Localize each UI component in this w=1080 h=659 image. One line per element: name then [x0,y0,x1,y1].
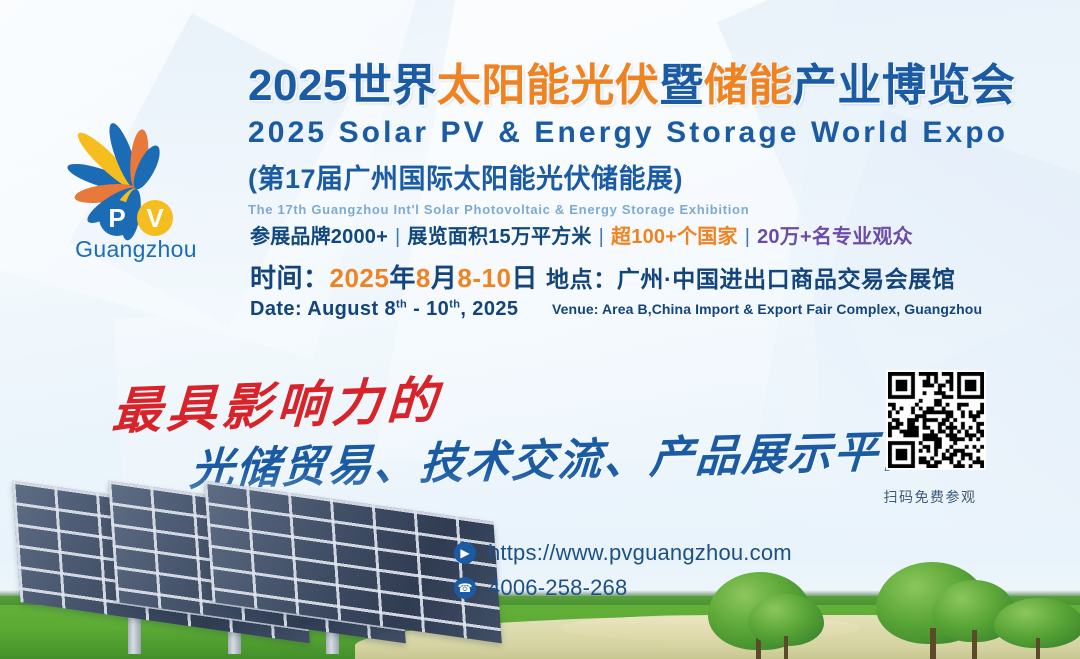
main-title-chinese: 2025世界太阳能光伏暨储能产业博览会 [248,62,1048,110]
solar-panel-array-group [0,500,470,659]
venue-chinese: 地点：广州·中国进出口商品交易会展馆 [546,260,982,294]
date-block: 时间：2025年8月8-10日 Date: August 8th - 10th,… [250,258,538,321]
contact-block: ▶ https://www.pvguangzhou.com ☎ 4006-258… [454,540,792,610]
main-title-segment-1: 太阳能光伏 [437,61,660,110]
logo-letter-v: V [137,200,173,236]
main-title-english: 2025 Solar PV & Energy Storage World Exp… [248,116,1048,150]
phone-row[interactable]: ☎ 4006-258-268 [454,575,792,601]
subtitle-chinese: (第17届广州国际太阳能光伏储能展) [248,157,1048,196]
date-year: 2025 [330,263,390,293]
venue-english: Venue: Area B,China Import & Export Fair… [552,301,982,317]
qr-caption: 扫码免费参观 [872,487,988,507]
logo-letter-p: P [99,200,135,236]
website-url[interactable]: https://www.pvguangzhou.com [488,540,792,566]
date-day-unit: 日 [511,263,538,293]
date-month: 8 [416,263,431,293]
logo-pv-badges: PV [48,200,224,236]
main-title-segment-0: 2025世界 [248,61,437,110]
stat-item-0: 参展品牌2000+ [250,226,388,248]
pv-guangzhou-logo: PV Guangzhou [48,104,224,274]
date-year-unit: 年 [389,263,416,293]
expo-promo-banner: PV Guangzhou 2025世界太阳能光伏暨储能产业博览会 2025 So… [0,0,1080,659]
date-month-unit: 月 [431,263,458,293]
date-chinese: 时间：2025年8月8-10日 [250,258,538,295]
subtitle-english: The 17th Guangzhou Int'l Solar Photovolt… [248,202,1048,217]
stats-separator: | [745,226,750,248]
main-title-segment-2: 暨 [659,61,704,110]
stats-separator: | [395,226,400,248]
stat-item-2: 超100+个国家 [611,226,738,248]
date-english: Date: August 8th - 10th, 2025 [250,298,538,321]
date-en-tail: , 2025 [460,298,518,320]
play-icon: ▶ [454,542,476,564]
date-en-main: Date: August 8 [250,298,396,320]
stats-separator: | [599,226,604,248]
main-title-segment-3: 储能 [704,61,793,110]
phone-number[interactable]: 4006-258-268 [488,575,627,601]
phone-icon: ☎ [454,577,476,599]
stat-item-1: 展览面积15万平方米 [407,226,591,248]
date-en-mid: - 10 [407,298,449,320]
date-days: 8-10 [457,263,511,293]
qr-block: 扫码免费参观 [884,370,988,507]
website-row[interactable]: ▶ https://www.pvguangzhou.com [454,540,792,566]
title-block: 2025世界太阳能光伏暨储能产业博览会 2025 Solar PV & Ener… [248,62,1048,217]
qr-code-image[interactable] [886,370,986,470]
date-en-sup-1: th [396,298,407,310]
stat-item-3: 20万+名专业观众 [757,226,913,248]
venue-value-cn: 广州·中国进出口商品交易会展馆 [617,266,956,292]
main-title-segment-4: 产业博览会 [793,61,1016,110]
stats-strip: 参展品牌2000+|展览面积15万平方米|超100+个国家|20万+名专业观众 [250,220,913,249]
venue-label-cn: 地点： [546,266,617,292]
date-label-cn: 时间： [250,263,330,293]
logo-city-label: Guangzhou [48,236,224,263]
venue-block: 地点：广州·中国进出口商品交易会展馆 Venue: Area B,China I… [546,260,982,317]
date-en-sup-2: th [449,298,460,310]
